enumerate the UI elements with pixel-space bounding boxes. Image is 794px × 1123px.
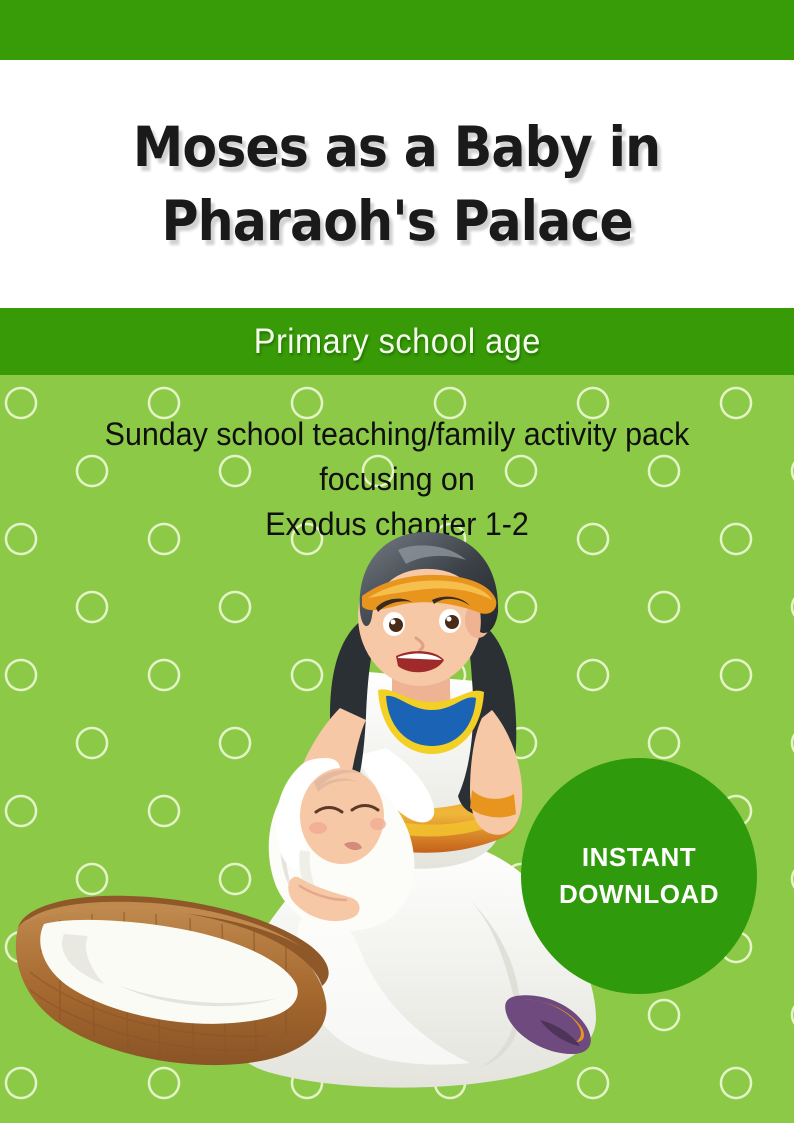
eye-glint-right <box>447 617 452 622</box>
title-panel: Moses as a Baby in Pharaoh's Palace <box>0 60 794 308</box>
audience-band: Primary school age <box>0 308 794 375</box>
iris-left <box>389 618 403 632</box>
baby-face <box>300 768 384 864</box>
baby-cheek-left <box>309 822 327 834</box>
title-line-2: Pharaoh's Palace <box>161 184 632 258</box>
badge-line-1: INSTANT <box>582 839 696 876</box>
badge-line-2: DOWNLOAD <box>559 876 719 913</box>
description-line-2: focusing on <box>20 457 774 502</box>
poster-canvas: Moses as a Baby in Pharaoh's Palace Prim… <box>0 0 794 1123</box>
description-line-1: Sunday school teaching/family activity p… <box>20 412 774 457</box>
instant-download-badge[interactable]: INSTANT DOWNLOAD <box>521 758 757 994</box>
iris-right <box>445 615 459 629</box>
title-line-1: Moses as a Baby in <box>133 110 660 184</box>
baby-cheek-right <box>370 818 386 830</box>
top-green-bar <box>0 0 794 60</box>
audience-label: Primary school age <box>254 322 541 362</box>
eye-glint-left <box>391 620 396 625</box>
